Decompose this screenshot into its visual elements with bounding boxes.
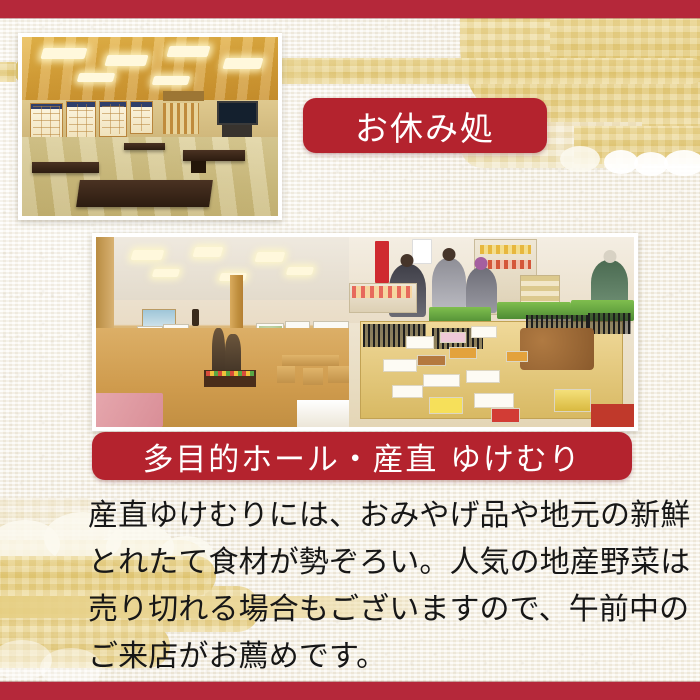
crate bbox=[588, 313, 631, 334]
product-package bbox=[466, 370, 500, 383]
product-package bbox=[429, 397, 463, 414]
ceiling-light bbox=[223, 58, 264, 69]
shoji-screen bbox=[130, 101, 153, 133]
description-line: 産直ゆけむりには、おみやげ品や地元の新鮮・ bbox=[88, 492, 668, 539]
red-banner-flag bbox=[375, 241, 389, 283]
description-line: ご来店がお薦めです。 bbox=[88, 633, 668, 680]
product-package bbox=[491, 408, 520, 423]
shopper bbox=[466, 267, 497, 313]
shoji-screen bbox=[99, 101, 127, 137]
hall-and-farmstand-banner: 多目的ホール・産直 ゆけむり bbox=[92, 432, 632, 480]
product-package bbox=[554, 389, 591, 412]
bottom-crimson-rule bbox=[0, 682, 700, 700]
zabuton-box bbox=[191, 161, 206, 174]
product-package bbox=[406, 336, 435, 349]
wooden-stool bbox=[328, 366, 349, 383]
low-table bbox=[124, 143, 165, 150]
ceiling-light bbox=[286, 267, 314, 275]
sign-mark bbox=[414, 243, 428, 258]
wood-lattice bbox=[163, 103, 199, 133]
product-package bbox=[474, 393, 514, 408]
ceiling-light bbox=[77, 73, 115, 82]
low-table bbox=[183, 150, 244, 161]
ceiling-light bbox=[151, 76, 189, 85]
ceiling-light bbox=[41, 48, 88, 59]
television bbox=[217, 101, 258, 124]
product-package bbox=[591, 404, 634, 427]
farmstand-scene bbox=[349, 237, 634, 427]
ceiling-light bbox=[152, 269, 180, 277]
ceiling-light bbox=[105, 55, 149, 66]
description-line: とれたて食材が勢ぞろい。人気の地産野菜は bbox=[88, 539, 668, 586]
description-line: 売り切れる場合もございますので、午前中の bbox=[88, 586, 668, 633]
shelf-goods bbox=[480, 245, 531, 255]
page-root: お休み処 多目的ホール・産直 ゆけむり 産直ゆけむりには、おみやげ品や地元の新鮮… bbox=[0, 0, 700, 700]
ceiling-light bbox=[193, 247, 224, 257]
product-package bbox=[506, 351, 529, 362]
product-package bbox=[392, 385, 423, 398]
hall-ceiling bbox=[96, 237, 354, 300]
ceiling-light bbox=[166, 46, 210, 57]
photo-tatami-banquet-room bbox=[18, 33, 282, 220]
wooden-table bbox=[282, 355, 339, 366]
wooden-stool bbox=[303, 368, 324, 385]
product-package bbox=[449, 347, 478, 358]
rest-area-banner: お休み処 bbox=[303, 98, 547, 153]
floor-rug bbox=[96, 393, 163, 427]
shoji-screen bbox=[66, 101, 97, 140]
low-table bbox=[32, 162, 99, 173]
wooden-stool bbox=[277, 366, 295, 383]
product-package bbox=[417, 355, 446, 366]
product-package bbox=[383, 359, 417, 372]
multipurpose-hall-scene bbox=[96, 237, 354, 427]
beam bbox=[163, 91, 204, 102]
ceiling-light bbox=[131, 250, 165, 260]
shopper bbox=[432, 258, 466, 309]
product-package bbox=[440, 332, 466, 343]
description-text: 産直ゆけむりには、おみやげ品や地元の新鮮・ とれたて食材が勢ぞろい。人気の地産野… bbox=[88, 492, 668, 680]
ceiling-light bbox=[255, 252, 286, 262]
wall-clock bbox=[192, 309, 200, 326]
low-table bbox=[76, 180, 213, 207]
product-package bbox=[471, 326, 497, 337]
top-crimson-rule bbox=[0, 0, 700, 18]
packaged-goods bbox=[352, 286, 412, 297]
product-package bbox=[423, 374, 460, 387]
photo-multipurpose-hall-and-farmstand bbox=[92, 233, 638, 431]
flower-planter bbox=[204, 370, 256, 387]
root-vegetables bbox=[520, 328, 594, 370]
